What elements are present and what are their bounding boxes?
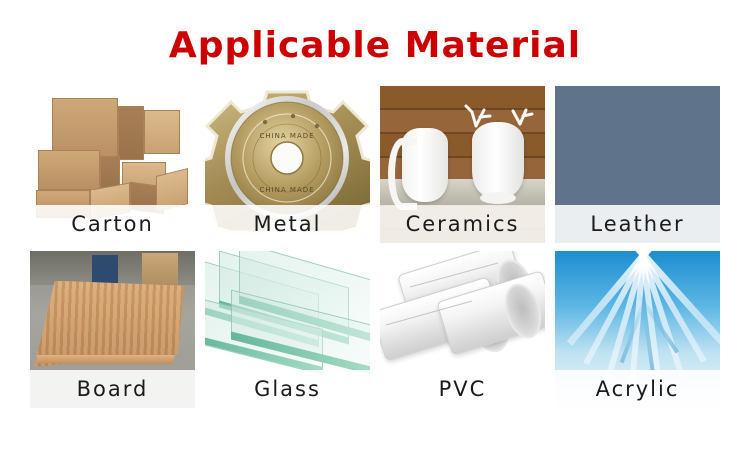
material-tile-board[interactable]: Board <box>30 251 195 408</box>
page-title: Applicable Material <box>0 0 750 70</box>
material-tile-leather[interactable]: Leather <box>555 86 720 243</box>
material-tile-glass[interactable]: Glass <box>205 251 370 408</box>
material-label: Glass <box>205 370 370 408</box>
material-label: Acrylic <box>555 370 720 408</box>
metal-disc-text-top: CHINA MADE <box>259 132 314 140</box>
material-label: Carton <box>30 205 195 243</box>
material-label: Metal <box>205 205 370 243</box>
applicable-material-banner: Applicable Material Carton <box>0 0 750 468</box>
material-label: Leather <box>555 205 720 243</box>
metal-disc-text-bottom: CHINA MADE <box>259 186 314 194</box>
material-tile-pvc[interactable]: PVC <box>380 251 545 408</box>
material-tile-ceramics[interactable]: Ceramics <box>380 86 545 243</box>
material-tile-metal[interactable]: CHINA MADE CHINA MADE Metal <box>205 86 370 243</box>
material-label: Board <box>30 370 195 408</box>
material-tile-carton[interactable]: Carton <box>30 86 195 243</box>
material-label: PVC <box>380 370 545 408</box>
material-label: Ceramics <box>380 205 545 243</box>
material-grid: Carton <box>30 86 720 408</box>
material-tile-acrylic[interactable]: Acrylic <box>555 251 720 408</box>
